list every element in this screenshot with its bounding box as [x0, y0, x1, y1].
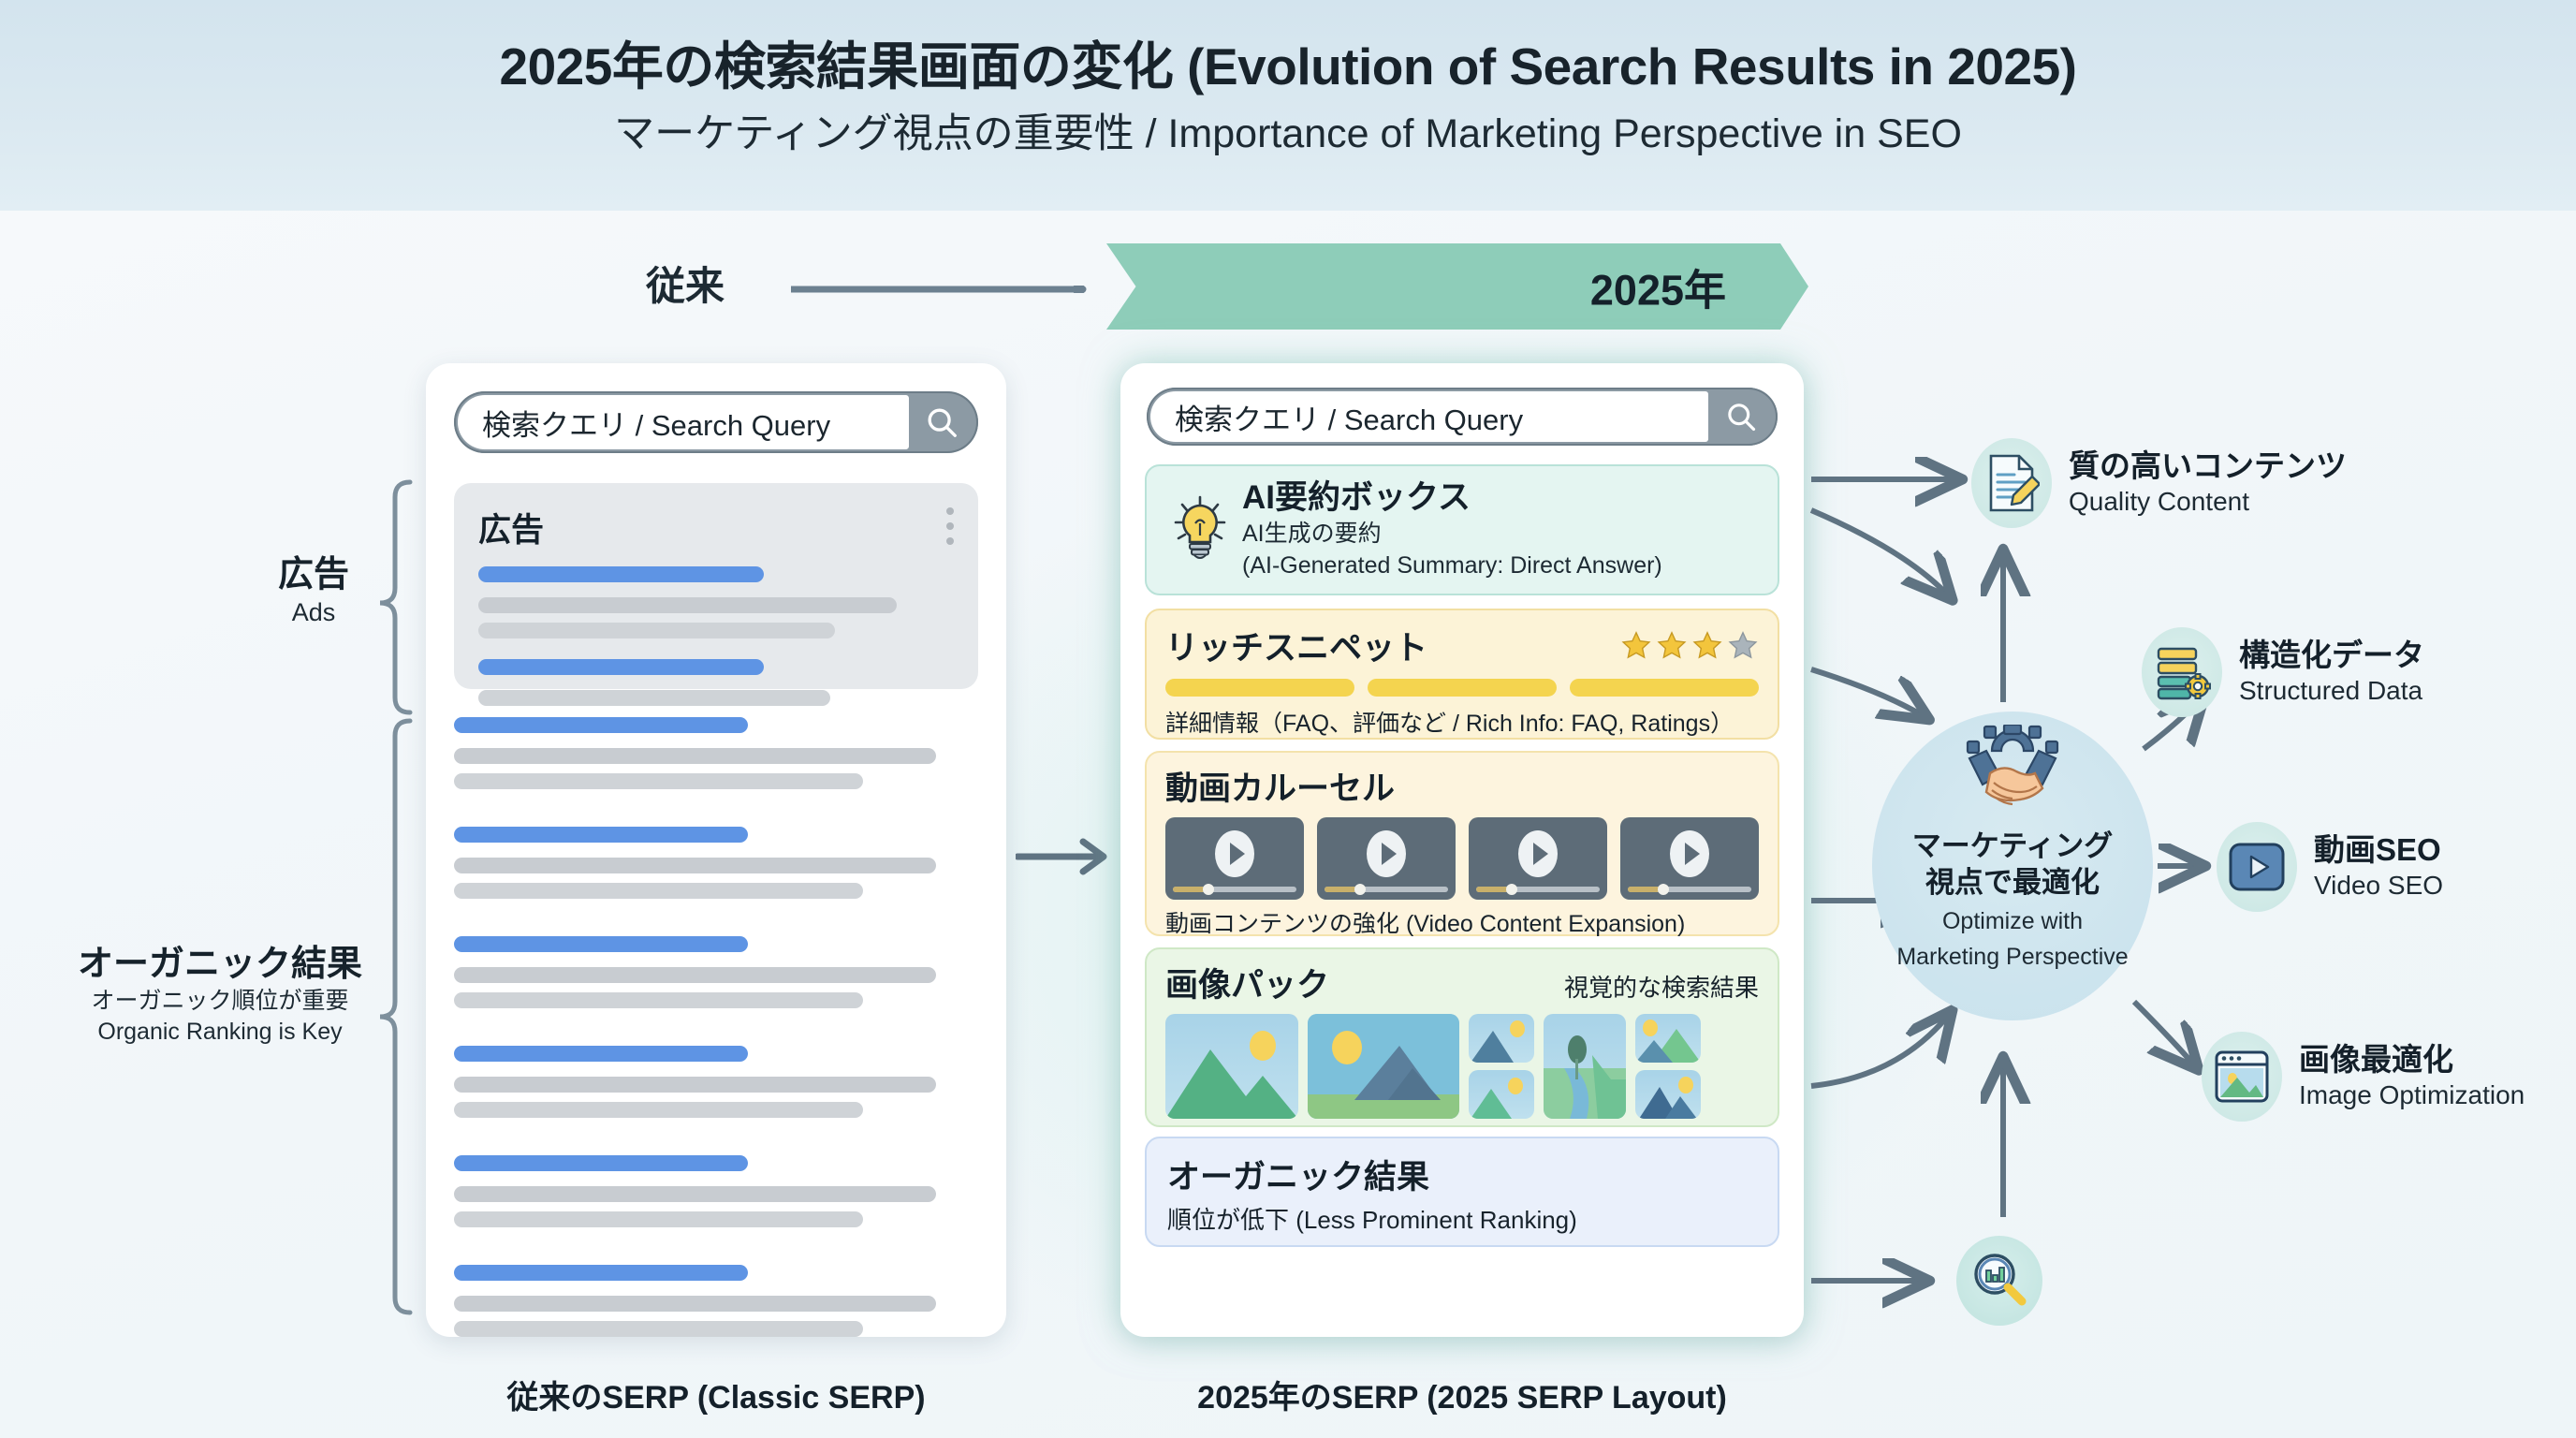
- analytics-badge[interactable]: [1956, 1236, 2042, 1326]
- star-icon: [1691, 630, 1723, 662]
- modern-serp-panel: 検索クエリ / Search Query: [1120, 363, 1804, 1337]
- classic-search-input[interactable]: 検索クエリ / Search Query: [458, 395, 909, 449]
- image-thumb-column: [1469, 1014, 1534, 1119]
- video-thumbnail[interactable]: [1469, 817, 1607, 900]
- ai-summary-line2: (AI-Generated Summary: Direct Answer): [1242, 551, 1662, 580]
- spoke-label-en: Video SEO: [2314, 870, 2443, 902]
- image-pack-box[interactable]: 画像パック 視覚的な検索結果: [1145, 947, 1779, 1127]
- list-item[interactable]: [454, 1046, 978, 1118]
- marketing-hub[interactable]: マーケティング 視点で最適化 Optimize with Marketing P…: [1872, 712, 2153, 1020]
- result-text-bar: [454, 1296, 936, 1312]
- ads-block: 広告: [454, 483, 978, 689]
- image-pack-grid: [1165, 1014, 1759, 1119]
- spoke-label-en: Image Optimization: [2299, 1079, 2525, 1111]
- hub-sub-line1: Optimize with: [1872, 907, 2153, 935]
- star-icon-empty: [1727, 630, 1759, 662]
- image-pack-title: 画像パック: [1165, 959, 1329, 1006]
- classic-serp-caption: 従来のSERP (Classic SERP): [426, 1372, 1006, 1417]
- classic-search-bar[interactable]: 検索クエリ / Search Query: [454, 391, 978, 453]
- list-item[interactable]: [454, 936, 978, 1008]
- image-thumbnail[interactable]: [1635, 1014, 1701, 1063]
- image-pack-subtitle: 視覚的な検索結果: [1564, 969, 1759, 1004]
- spoke-label-en: Quality Content: [2069, 486, 2347, 518]
- spoke-label-en: Structured Data: [2239, 675, 2424, 707]
- ai-summary-box[interactable]: AI要約ボックス AI生成の要約 (AI-Generated Summary: …: [1145, 464, 1779, 595]
- hub-title-line1: マーケティング: [1872, 829, 2153, 863]
- modern-search-input[interactable]: 検索クエリ / Search Query: [1150, 391, 1708, 442]
- spoke-label-jp: 質の高いコンテンツ: [2069, 448, 2347, 484]
- play-icon: [1215, 830, 1254, 877]
- image-thumbnail[interactable]: [1635, 1070, 1701, 1119]
- image-thumbnail[interactable]: [1469, 1014, 1534, 1063]
- ads-text-bar: [478, 597, 897, 613]
- ai-summary-line1: AI生成の要約: [1242, 520, 1662, 549]
- page-title: 2025年の検索結果画面の変化 (Evolution of Search Res…: [0, 0, 2576, 96]
- header-band: 2025年の検索結果画面の変化 (Evolution of Search Res…: [0, 0, 2576, 211]
- progress-bar: [1476, 887, 1600, 892]
- ads-title-bar: [478, 566, 764, 582]
- video-thumb-row: [1165, 817, 1759, 900]
- image-window-icon: [2202, 1032, 2282, 1122]
- handshake-gear-icon: [1872, 725, 2153, 827]
- result-text-bar: [454, 992, 863, 1008]
- play-icon: [1367, 830, 1406, 877]
- video-play-icon: [2217, 822, 2297, 912]
- image-thumbnail[interactable]: [1165, 1014, 1298, 1119]
- classic-serp-panel: 検索クエリ / Search Query 広告: [426, 363, 1006, 1337]
- spoke-label-jp: 動画SEO: [2314, 832, 2443, 868]
- page-subtitle: マーケティング視点の重要性 / Importance of Marketing …: [0, 96, 2576, 157]
- video-carousel-box[interactable]: 動画カルーセル 動画コンテンツの強化 (Video Content Expans…: [1145, 751, 1779, 936]
- ads-text-bar: [478, 690, 830, 706]
- progress-bar: [1628, 887, 1751, 892]
- result-title-bar: [454, 1265, 748, 1281]
- result-title-bar: [454, 1155, 748, 1171]
- progress-bar: [1173, 887, 1296, 892]
- spoke-video-seo[interactable]: 動画SEO Video SEO: [2217, 822, 2443, 912]
- spoke-structured-data[interactable]: 構造化データ Structured Data: [2142, 627, 2424, 717]
- image-thumbnail[interactable]: [1308, 1014, 1459, 1119]
- play-icon: [1518, 830, 1558, 877]
- lightbulb-icon: [1164, 493, 1237, 567]
- result-text-bar: [454, 748, 936, 764]
- result-text-bar: [454, 1321, 863, 1337]
- infographic-canvas: 2025年の検索結果画面の変化 (Evolution of Search Res…: [0, 0, 2576, 1438]
- ads-label: 広告: [478, 504, 954, 551]
- more-vertical-icon[interactable]: [946, 507, 954, 552]
- structured-data-gear-icon: [2142, 627, 2222, 717]
- hub-title-line2: 視点で最適化: [1872, 865, 2153, 900]
- rich-snippet-title: リッチスニペット: [1165, 622, 1427, 669]
- timeline-arrow-icon: [791, 286, 1100, 293]
- result-text-bar: [454, 1102, 863, 1118]
- spoke-label-jp: 画像最適化: [2299, 1042, 2525, 1078]
- hub-sub-line2: Marketing Perspective: [1872, 943, 2153, 971]
- list-item[interactable]: [454, 1265, 978, 1337]
- video-thumbnail[interactable]: [1317, 817, 1456, 900]
- spoke-image-optimization[interactable]: 画像最適化 Image Optimization: [2202, 1032, 2525, 1122]
- image-thumb-column: [1635, 1014, 1701, 1119]
- list-item[interactable]: [454, 717, 978, 789]
- transition-arrow-icon: [1016, 838, 1119, 875]
- spoke-quality-content[interactable]: 質の高いコンテンツ Quality Content: [1971, 438, 2347, 528]
- list-item[interactable]: [454, 1155, 978, 1227]
- image-thumbnail[interactable]: [1544, 1014, 1626, 1119]
- organic-bracket-label: オーガニック結果 オーガニック順位が重要 Organic Ranking is …: [37, 946, 402, 1047]
- video-carousel-caption: 動画コンテンツの強化 (Video Content Expansion): [1165, 905, 1759, 939]
- result-text-bar: [454, 1186, 936, 1202]
- modern-organic-title: オーガニック結果: [1167, 1151, 1757, 1198]
- video-thumbnail[interactable]: [1165, 817, 1304, 900]
- play-icon: [1670, 830, 1709, 877]
- star-icon: [1656, 630, 1688, 662]
- result-text-bar: [454, 773, 863, 789]
- ads-title-bar: [478, 659, 764, 675]
- rating-stars: [1620, 630, 1759, 662]
- result-text-bar: [454, 1211, 863, 1227]
- classic-organic-list: [454, 717, 978, 1374]
- modern-search-bar[interactable]: 検索クエリ / Search Query: [1147, 388, 1778, 446]
- magnifier-chart-icon: [1971, 1251, 2027, 1312]
- timeline-2025-chevron: 2025年: [1106, 243, 1808, 330]
- video-thumbnail[interactable]: [1620, 817, 1759, 900]
- document-pencil-icon: [1971, 438, 2052, 528]
- search-icon[interactable]: [909, 404, 974, 440]
- result-title-bar: [454, 936, 748, 952]
- rich-snippet-box[interactable]: リッチスニペット 詳細情報（FAQ、評価など / Rich Info: FAQ,…: [1145, 609, 1779, 740]
- spoke-label-jp: 構造化データ: [2239, 638, 2424, 673]
- modern-organic-subtitle: 順位が低下 (Less Prominent Ranking): [1167, 1201, 1757, 1236]
- timeline-old-label: 従来: [646, 255, 724, 312]
- list-item[interactable]: [454, 827, 978, 899]
- star-icon: [1620, 630, 1652, 662]
- rich-snippet-chips: [1165, 679, 1759, 697]
- result-text-bar: [454, 883, 863, 899]
- result-text-bar: [454, 858, 936, 873]
- search-icon[interactable]: [1708, 400, 1774, 433]
- modern-organic-box[interactable]: オーガニック結果 順位が低下 (Less Prominent Ranking): [1145, 1137, 1779, 1247]
- result-title-bar: [454, 717, 748, 733]
- video-carousel-title: 動画カルーセル: [1165, 762, 1759, 810]
- ai-summary-title: AI要約ボックス: [1242, 479, 1662, 517]
- rich-snippet-caption: 詳細情報（FAQ、評価など / Rich Info: FAQ, Ratings）: [1165, 705, 1759, 739]
- modern-serp-caption: 2025年のSERP (2025 SERP Layout): [1120, 1372, 1804, 1417]
- result-text-bar: [454, 1077, 936, 1093]
- ads-bracket-label: 広告 Ads: [234, 556, 393, 629]
- image-thumbnail[interactable]: [1469, 1070, 1534, 1119]
- result-title-bar: [454, 1046, 748, 1062]
- result-text-bar: [454, 967, 936, 983]
- timeline-new-label: 2025年: [1590, 257, 1726, 317]
- progress-bar: [1325, 887, 1448, 892]
- result-title-bar: [454, 827, 748, 843]
- ads-text-bar: [478, 623, 835, 638]
